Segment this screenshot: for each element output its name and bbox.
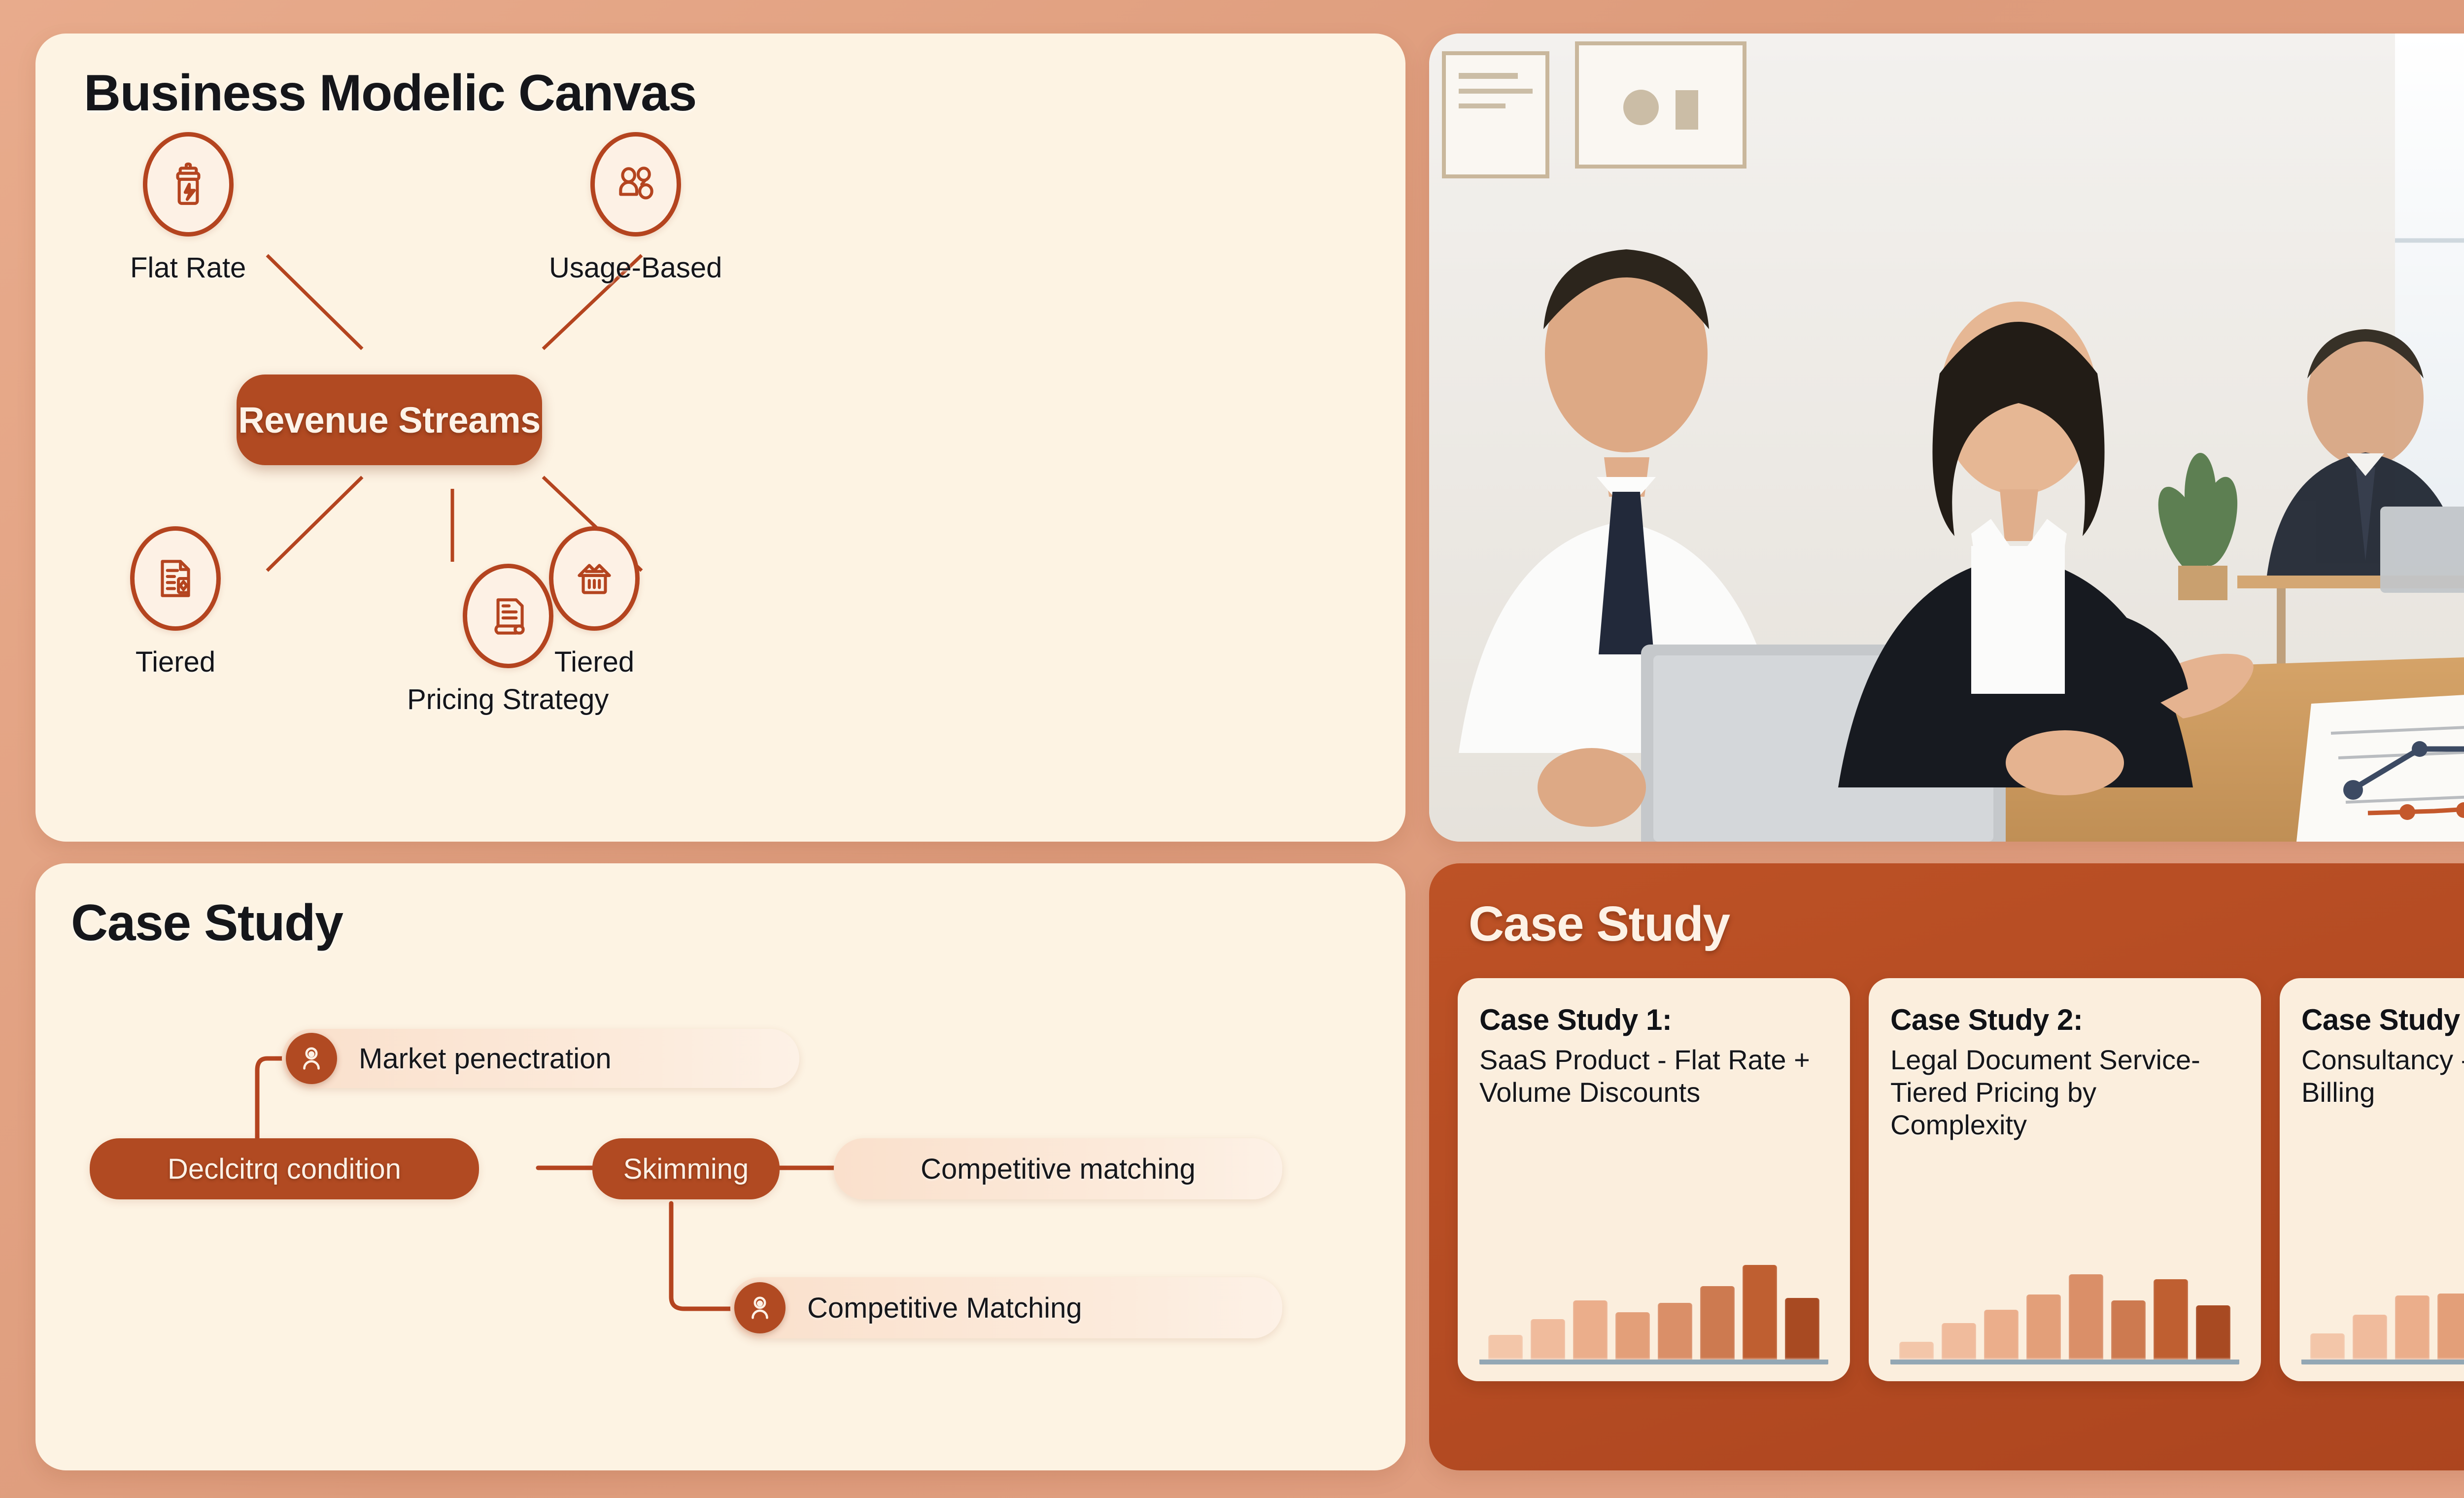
node-label: Usage-Based	[549, 251, 722, 284]
chart-bar	[2353, 1315, 2387, 1360]
flow-node-competitive-matching-1[interactable]: Competitive matching	[834, 1138, 1282, 1199]
node-label: Tiered	[136, 646, 215, 679]
infographic-canvas: Business Modelic Canvas	[0, 0, 2464, 1498]
chart-bar	[2310, 1333, 2345, 1360]
meeting-photo-card	[1429, 34, 2464, 842]
flow-node-declaring-condition[interactable]: Declcitrq condition	[90, 1138, 479, 1199]
chart-bar	[1531, 1319, 1565, 1360]
chart-bar	[1658, 1303, 1692, 1360]
flow-node-market-penetration[interactable]: Market penectration	[282, 1029, 799, 1088]
revenue-streams-diagram: Flat Rate Usage-Based	[35, 34, 1405, 842]
chart-bar	[1573, 1300, 1608, 1360]
battery-bolt-icon	[143, 132, 234, 237]
chart-bar	[1984, 1310, 2019, 1360]
flow-node-label: Competitive Matching	[807, 1292, 1082, 1325]
case-studies-card: Case Study Case Study 1: SaaS Product - …	[1429, 863, 2464, 1470]
person-pin-icon	[734, 1282, 786, 1333]
case-study-card-1[interactable]: Case Study 1: SaaS Product - Flat Rate +…	[1458, 978, 1850, 1381]
case-study-card-3[interactable]: Case Study 3: Consultancy - Usage-Based …	[2280, 978, 2464, 1381]
bank-building-icon	[549, 526, 640, 631]
revenue-streams-pill[interactable]: Revenue Streams	[237, 374, 542, 465]
chart-bar	[1743, 1265, 1777, 1360]
node-flat-rate[interactable]: Flat Rate	[130, 132, 246, 284]
case-studies-row: Case Study 1: SaaS Product - Flat Rate +…	[1458, 978, 2464, 1381]
flow-node-skimming[interactable]: Skimming	[592, 1138, 780, 1199]
chart-bar	[2437, 1294, 2464, 1360]
node-label: Tiered	[554, 646, 634, 679]
case-heading: Case Study 1:	[1479, 1003, 1828, 1037]
chart-bar	[1785, 1298, 1819, 1360]
node-usage-based[interactable]: Usage-Based	[549, 132, 722, 284]
flow-node-label: Competitive matching	[921, 1153, 1196, 1186]
flow-node-label: Skimming	[623, 1153, 749, 1186]
person-pin-icon	[286, 1033, 337, 1084]
chart-bar	[2395, 1295, 2430, 1360]
chart-bar	[2026, 1294, 2061, 1360]
chart-bar	[1615, 1312, 1650, 1360]
case-bar-chart-2	[1890, 1241, 2239, 1364]
node-label: Flat Rate	[130, 251, 246, 284]
users-group-icon	[590, 132, 681, 237]
flow-node-label: Market penectration	[359, 1042, 612, 1075]
chart-bar	[1700, 1286, 1735, 1360]
chart-bar	[2196, 1305, 2230, 1360]
case-study-card-2[interactable]: Case Study 2: Legal Document Service-Tie…	[1869, 978, 2261, 1381]
node-label: Pricing Strategy	[407, 683, 609, 716]
chart-bar	[1488, 1335, 1523, 1360]
case-study-flow-card: Case Study Market penectratio	[35, 863, 1405, 1470]
case-bar-chart-1	[1479, 1241, 1828, 1364]
business-model-canvas-card: Business Modelic Canvas	[35, 34, 1405, 842]
case-bar-chart-3	[2301, 1241, 2464, 1364]
case-body: SaaS Product - Flat Rate + Volume Discou…	[1479, 1044, 1828, 1109]
case-body: Consultancy - Usage-Based Billing	[2301, 1044, 2464, 1109]
revenue-streams-label: Revenue Streams	[238, 399, 541, 441]
document-badge-icon	[130, 526, 221, 631]
flow-node-competitive-matching-2[interactable]: Competitive Matching	[730, 1277, 1282, 1338]
case-studies-title: Case Study	[1469, 896, 2464, 953]
flow-node-label: Declcitrq condition	[168, 1153, 401, 1186]
business-meeting-photo	[1429, 34, 2464, 842]
case-heading: Case Study 2:	[1890, 1003, 2239, 1037]
chart-bar	[2069, 1274, 2103, 1360]
node-tiered-right[interactable]: Tiered	[549, 526, 640, 679]
chart-bar	[1899, 1342, 1934, 1360]
chart-bar	[1942, 1323, 1976, 1360]
chart-bar	[2154, 1279, 2188, 1360]
chart-bar	[2111, 1300, 2146, 1360]
pricing-flow-diagram: Market penectration Declcitrq condition …	[35, 863, 1405, 1470]
document-list-icon	[463, 564, 553, 668]
case-body: Legal Document Service-Tiered Pricing by…	[1890, 1044, 2239, 1141]
node-tiered-left[interactable]: Tiered	[130, 526, 221, 679]
case-heading: Case Study 3:	[2301, 1003, 2464, 1037]
